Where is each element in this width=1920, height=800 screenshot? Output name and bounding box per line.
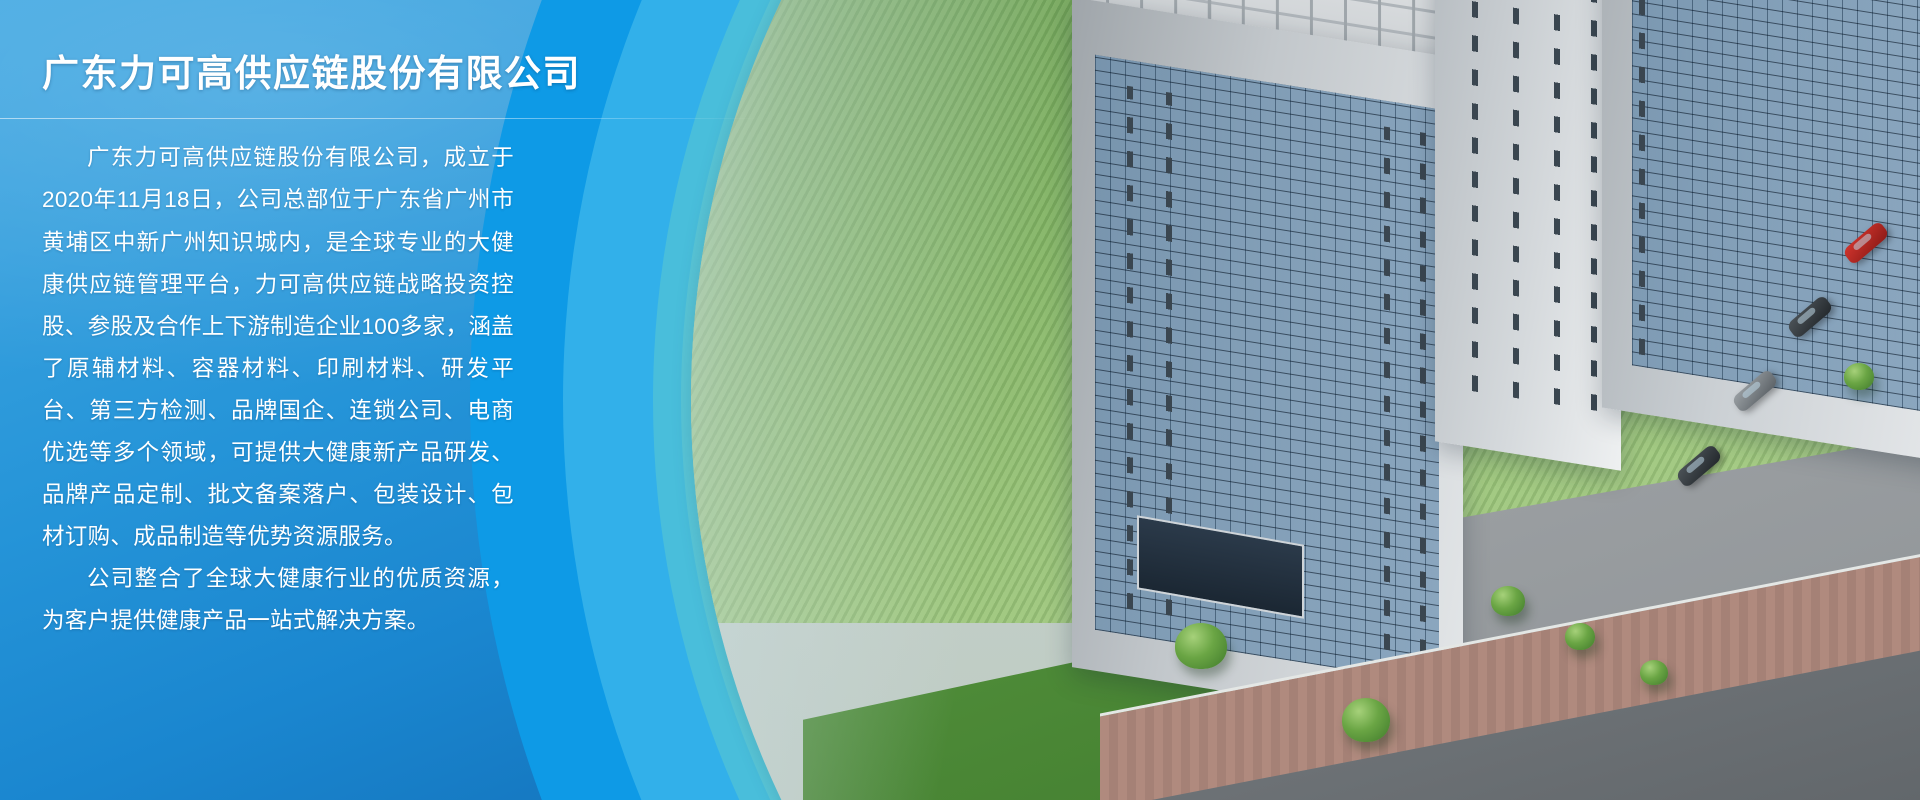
page-title: 广东力可高供应链股份有限公司 bbox=[42, 52, 640, 96]
description-paragraph-1: 广东力可高供应链股份有限公司，成立于2020年11月18日，公司总部位于广东省广… bbox=[42, 137, 514, 558]
company-profile-banner: 知识城科技产业园 bbox=[0, 0, 1920, 800]
photo-left-fade bbox=[691, 0, 1920, 800]
title-divider bbox=[0, 118, 760, 119]
description-body: 广东力可高供应链股份有限公司，成立于2020年11月18日，公司总部位于广东省广… bbox=[42, 137, 514, 642]
facility-photo-disc: 知识城科技产业园 bbox=[691, 0, 1920, 800]
facility-photo: 知识城科技产业园 bbox=[691, 0, 1920, 800]
description-paragraph-2: 公司整合了全球大健康行业的优质资源，为客户提供健康产品一站式解决方案。 bbox=[42, 558, 514, 642]
text-panel: 广东力可高供应链股份有限公司 广东力可高供应链股份有限公司，成立于2020年11… bbox=[0, 0, 640, 642]
